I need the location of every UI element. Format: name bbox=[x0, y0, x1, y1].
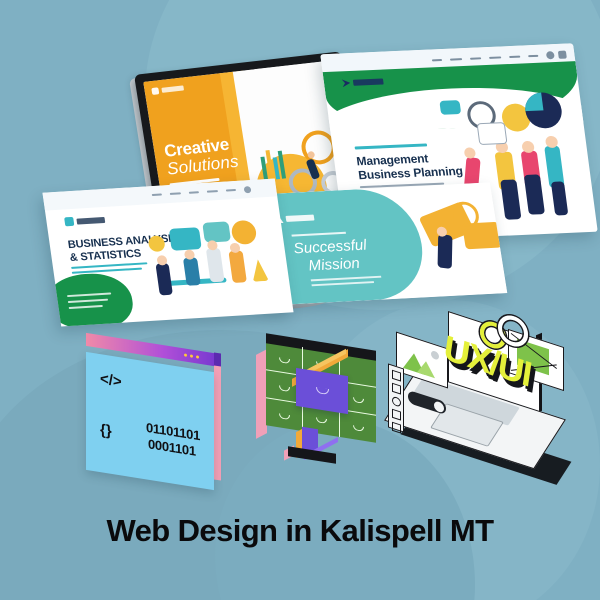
tool-icon-text bbox=[392, 422, 401, 434]
panel-white-logo bbox=[64, 215, 107, 227]
drawer-handle-icon bbox=[316, 417, 327, 424]
nav-dash[interactable] bbox=[226, 189, 236, 192]
nav-dash[interactable] bbox=[450, 58, 462, 61]
panel-green-logo bbox=[342, 77, 385, 88]
search-icon[interactable] bbox=[546, 51, 555, 59]
panel-white-illustration-bubble bbox=[202, 221, 231, 242]
panel-white-green-blob bbox=[42, 271, 136, 326]
nav-dash[interactable] bbox=[470, 57, 481, 59]
tool-icon-pen bbox=[392, 409, 401, 421]
panel-green-eyebrow bbox=[355, 143, 428, 149]
panel-white-illustration-figure bbox=[228, 250, 246, 283]
nav-dash[interactable] bbox=[489, 56, 501, 59]
nav-dash[interactable] bbox=[189, 191, 199, 194]
panel-white-illustration-figure bbox=[183, 257, 201, 286]
nav-dash[interactable] bbox=[509, 56, 520, 58]
toggle-knob bbox=[434, 400, 444, 413]
panel-illustration-figure bbox=[551, 181, 568, 215]
tool-palette[interactable] bbox=[388, 363, 404, 432]
tool-icon-square bbox=[392, 383, 401, 395]
page-title: Web Design in Kalispell MT bbox=[0, 513, 600, 549]
blob-text-line bbox=[69, 305, 103, 309]
panel-illustration-chat-bubble bbox=[439, 100, 461, 115]
ux-ui-text-wrap: UX/UI bbox=[444, 340, 530, 382]
business-analysis-statistics-panel: BUSINESS ANALYSIS & STATISTICS bbox=[42, 179, 293, 327]
drawer-handle-icon bbox=[279, 385, 290, 392]
cabinet-open-drawer[interactable] bbox=[296, 368, 348, 414]
illustration-stage: Creative Solutions bbox=[0, 0, 600, 600]
panel-white-illustration-figure bbox=[155, 263, 172, 295]
menu-icon[interactable] bbox=[558, 51, 567, 59]
panel-illustration-figure bbox=[524, 174, 545, 214]
blob-text-line bbox=[67, 292, 111, 297]
panel-teal-illustration-figure bbox=[438, 234, 453, 269]
code-tag-icon: </> bbox=[100, 370, 122, 390]
nav-dash[interactable] bbox=[152, 193, 162, 196]
drawer-handle-icon bbox=[353, 425, 364, 432]
blob-text-line bbox=[68, 299, 108, 303]
nav-dash[interactable] bbox=[207, 190, 218, 193]
sun-icon bbox=[431, 350, 439, 361]
panel-white-illustration-figure bbox=[206, 248, 225, 283]
panel-illustration-figure bbox=[500, 179, 521, 219]
mountain-icon bbox=[417, 358, 435, 378]
panel-illustration-document bbox=[477, 122, 508, 145]
open-drawer-handle-icon bbox=[316, 387, 329, 395]
ux-ui-laptop: UX/UI bbox=[386, 318, 576, 483]
code-browser-window: </> {} 01101101 0001101 bbox=[86, 352, 231, 484]
code-window-side-panel bbox=[214, 361, 221, 480]
tool-icon-pointer bbox=[392, 370, 401, 382]
drawer-handle-icon bbox=[279, 357, 290, 364]
tool-icon-circle bbox=[392, 396, 401, 408]
drawer-handle-icon bbox=[279, 413, 290, 420]
filing-cabinet bbox=[256, 336, 384, 466]
nav-dash[interactable] bbox=[528, 55, 538, 57]
panel-white-illustration-bubble bbox=[169, 227, 202, 251]
panel-white-illustration-plant bbox=[250, 259, 269, 282]
code-brace-icon: {} bbox=[100, 421, 112, 440]
nav-dash[interactable] bbox=[170, 192, 181, 195]
drawer-handle-icon bbox=[353, 397, 364, 404]
nav-dash[interactable] bbox=[432, 59, 442, 61]
search-icon[interactable] bbox=[244, 186, 252, 193]
panel-teal-title-line2: Mission bbox=[307, 255, 361, 274]
code-window-side-top bbox=[214, 352, 221, 366]
panel-white-illustration-gear-icon bbox=[230, 220, 257, 245]
